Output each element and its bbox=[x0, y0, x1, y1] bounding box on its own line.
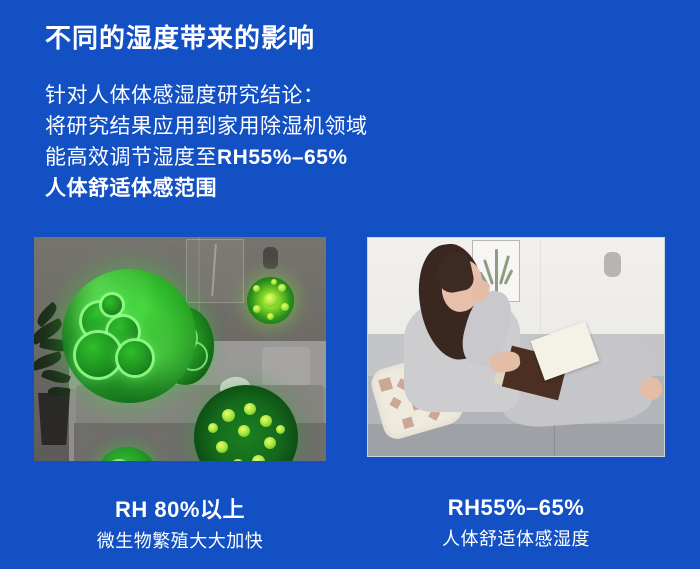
sofa-cushion-seam bbox=[554, 424, 555, 457]
intro-line-4: 人体舒适体感范围 bbox=[45, 173, 465, 204]
intro-paragraph: 针对人体体感湿度研究结论： 将研究结果应用到家用除湿机领域 能高效调节湿度至RH… bbox=[45, 80, 465, 204]
caption-comfort-humidity: RH55%–65% 人体舒适体感湿度 bbox=[367, 494, 665, 552]
intro-line-3: 能高效调节湿度至RH55%–65% bbox=[45, 142, 465, 173]
caption-high-humidity-subtitle: 微生物繁殖大大加快 bbox=[34, 528, 326, 554]
microbe-sphere-large bbox=[62, 269, 196, 403]
intro-line-3-highlight: RH55%–65% bbox=[217, 146, 348, 169]
wall-speaker bbox=[604, 252, 621, 277]
photo-high-humidity bbox=[34, 237, 326, 461]
intro-line-3-prefix: 能高效调节湿度至 bbox=[45, 146, 217, 169]
humidity-comparison-poster: 不同的湿度带来的影响 针对人体体感湿度研究结论： 将研究结果应用到家用除湿机领域… bbox=[0, 0, 700, 569]
microbe-sphere-small bbox=[247, 277, 294, 324]
photo-comfort-humidity bbox=[367, 237, 665, 457]
wall-speaker bbox=[263, 247, 278, 269]
intro-line-1: 针对人体体感湿度研究结论： bbox=[45, 80, 465, 111]
intro-line-2: 将研究结果应用到家用除湿机领域 bbox=[45, 111, 465, 142]
cactus-stem bbox=[495, 249, 498, 292]
caption-high-humidity-title: RH 80%以上 bbox=[34, 496, 326, 524]
caption-comfort-humidity-subtitle: 人体舒适体感湿度 bbox=[367, 526, 665, 552]
sofa-cushion bbox=[262, 347, 310, 387]
caption-high-humidity: RH 80%以上 微生物繁殖大大加快 bbox=[34, 496, 326, 554]
page-title: 不同的湿度带来的影响 bbox=[45, 18, 315, 55]
caption-comfort-humidity-title: RH55%–65% bbox=[367, 494, 665, 522]
